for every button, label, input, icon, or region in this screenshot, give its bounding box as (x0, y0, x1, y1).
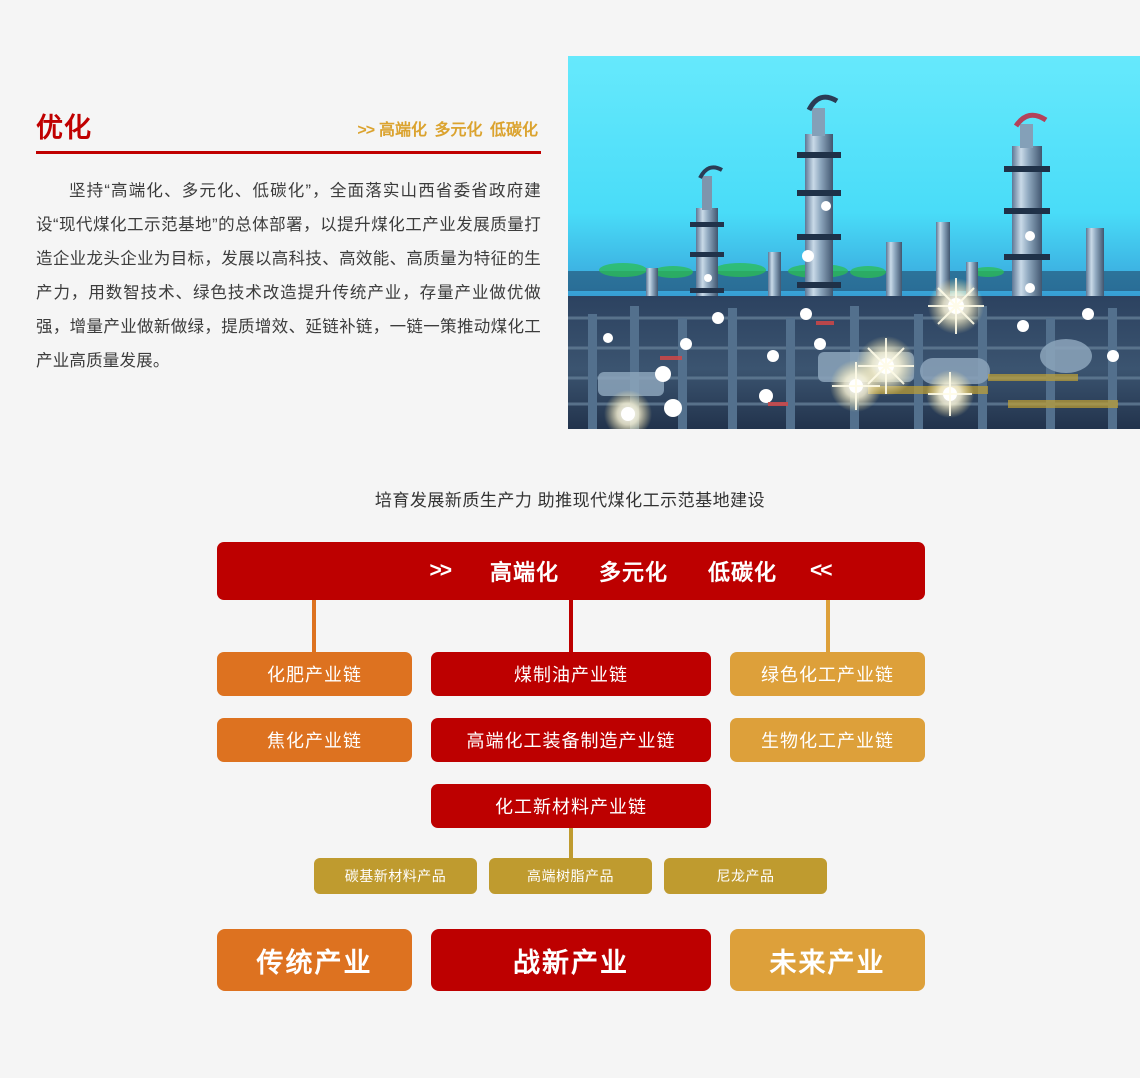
intro-text-column: 优化 >>高端化 多元化 低碳化 坚持“高端化、多元化、低碳化”，全面落实山西省… (36, 100, 541, 378)
plant-photo (568, 56, 1140, 429)
chain-node-coal-to-oil[interactable]: 煤制油产业链 (431, 652, 711, 696)
chain-node-new-materials-label: 化工新材料产业链 (495, 793, 647, 819)
connector-right (826, 600, 830, 652)
product-node-carbon-materials[interactable]: 碳基新材料产品 (314, 858, 477, 894)
connector-center (569, 600, 573, 652)
chain-node-bio-chemical[interactable]: 生物化工产业链 (730, 718, 925, 762)
section-header: 优化 >>高端化 多元化 低碳化 (36, 100, 541, 142)
diagram-banner: >> 高端化 多元化 低碳化 << (217, 542, 925, 600)
header-tag-1: 多元化 (435, 122, 483, 139)
chain-node-bio-chemical-label: 生物化工产业链 (761, 727, 894, 753)
plant-photo-illustration (568, 56, 1140, 429)
category-node-future[interactable]: 未来产业 (730, 929, 925, 991)
banner-item-2: 低碳化 (708, 555, 777, 587)
chevron-right-icon: >> (357, 122, 374, 139)
banner-item-1: 多元化 (599, 555, 668, 587)
chain-node-fertilizer[interactable]: 化肥产业链 (217, 652, 412, 696)
category-node-strategic-new-label: 战新产业 (513, 941, 629, 980)
diagram-caption: 培育发展新质生产力 助推现代煤化工示范基地建设 (0, 486, 1140, 511)
chain-node-coking[interactable]: 焦化产业链 (217, 718, 412, 762)
category-node-future-label: 未来产业 (770, 941, 886, 980)
chain-node-green-chemical[interactable]: 绿色化工产业链 (730, 652, 925, 696)
intro-paragraph: 坚持“高端化、多元化、低碳化”，全面落实山西省委省政府建设“现代煤化工示范基地”… (36, 174, 541, 378)
product-node-high-end-resin[interactable]: 高端树脂产品 (489, 858, 652, 894)
chain-node-coal-to-oil-label: 煤制油产业链 (514, 661, 628, 687)
chain-node-high-end-equipment-label: 高端化工装备制造产业链 (467, 727, 676, 753)
page-title: 优化 (36, 115, 92, 142)
diagram-banner-content: >> 高端化 多元化 低碳化 << (311, 555, 830, 587)
product-node-nylon[interactable]: 尼龙产品 (664, 858, 827, 894)
category-node-traditional-label: 传统产业 (257, 941, 373, 980)
header-tag-2: 低碳化 (490, 122, 538, 139)
header-tag-0: 高端化 (379, 122, 427, 139)
category-node-strategic-new[interactable]: 战新产业 (431, 929, 711, 991)
connector-materials (569, 828, 573, 858)
industry-chain-diagram: 培育发展新质生产力 助推现代煤化工示范基地建设 >> 高端化 多元化 低碳化 <… (0, 430, 1140, 1078)
intro-section: 优化 >>高端化 多元化 低碳化 坚持“高端化、多元化、低碳化”，全面落实山西省… (0, 0, 1140, 430)
banner-chevron-left-icon: >> (429, 559, 450, 583)
banner-item-0: 高端化 (490, 555, 559, 587)
chain-node-high-end-equipment[interactable]: 高端化工装备制造产业链 (431, 718, 711, 762)
product-node-high-end-resin-label: 高端树脂产品 (527, 866, 614, 886)
header-tagline: >>高端化 多元化 低碳化 (357, 123, 541, 142)
product-node-carbon-materials-label: 碳基新材料产品 (345, 866, 447, 886)
chain-node-coking-label: 焦化产业链 (267, 727, 362, 753)
chain-node-new-materials[interactable]: 化工新材料产业链 (431, 784, 711, 828)
connector-left (312, 600, 316, 652)
category-node-traditional[interactable]: 传统产业 (217, 929, 412, 991)
product-node-nylon-label: 尼龙产品 (717, 866, 775, 886)
chain-node-green-chemical-label: 绿色化工产业链 (761, 661, 894, 687)
banner-chevron-right-icon: << (810, 559, 831, 583)
chain-node-fertilizer-label: 化肥产业链 (267, 661, 362, 687)
header-divider (36, 151, 541, 154)
